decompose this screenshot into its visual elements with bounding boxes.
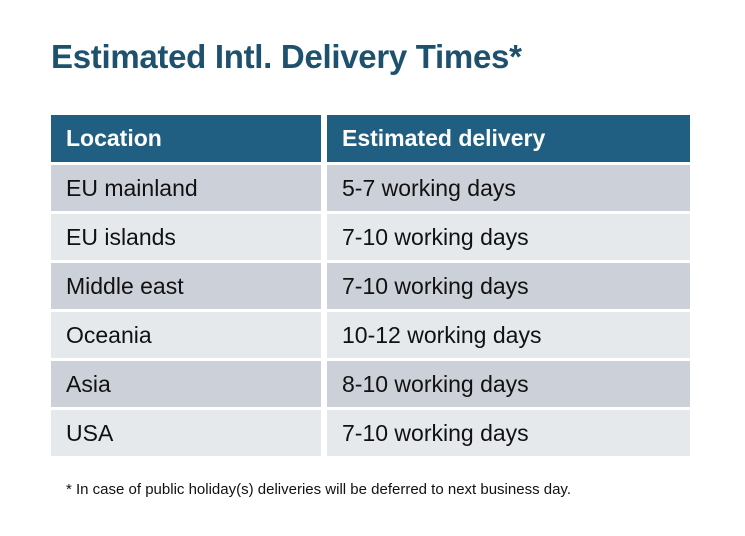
cell-delivery: 7-10 working days bbox=[327, 214, 690, 260]
footnote-text: * In case of public holiday(s) deliverie… bbox=[66, 481, 571, 498]
cell-delivery: 8-10 working days bbox=[327, 361, 690, 407]
cell-location: USA bbox=[51, 410, 321, 456]
cell-delivery: 7-10 working days bbox=[327, 263, 690, 309]
table-row: Oceania 10-12 working days bbox=[51, 312, 690, 358]
cell-delivery: 5-7 working days bbox=[327, 165, 690, 211]
table-row: Asia 8-10 working days bbox=[51, 361, 690, 407]
cell-delivery: 10-12 working days bbox=[327, 312, 690, 358]
cell-location: EU islands bbox=[51, 214, 321, 260]
cell-location: Oceania bbox=[51, 312, 321, 358]
table-row: EU islands 7-10 working days bbox=[51, 214, 690, 260]
table-row: USA 7-10 working days bbox=[51, 410, 690, 456]
cell-location: Middle east bbox=[51, 263, 321, 309]
table-header-row: Location Estimated delivery bbox=[51, 115, 690, 162]
table-row: Middle east 7-10 working days bbox=[51, 263, 690, 309]
delivery-times-table: Location Estimated delivery EU mainland … bbox=[51, 115, 690, 456]
cell-delivery: 7-10 working days bbox=[327, 410, 690, 456]
table-row: EU mainland 5-7 working days bbox=[51, 165, 690, 211]
cell-location: Asia bbox=[51, 361, 321, 407]
cell-location: EU mainland bbox=[51, 165, 321, 211]
column-header-estimated-delivery: Estimated delivery bbox=[327, 115, 690, 162]
column-header-location: Location bbox=[51, 115, 321, 162]
page-title: Estimated Intl. Delivery Times* bbox=[51, 37, 522, 77]
delivery-times-page: Estimated Intl. Delivery Times* Location… bbox=[0, 0, 745, 536]
